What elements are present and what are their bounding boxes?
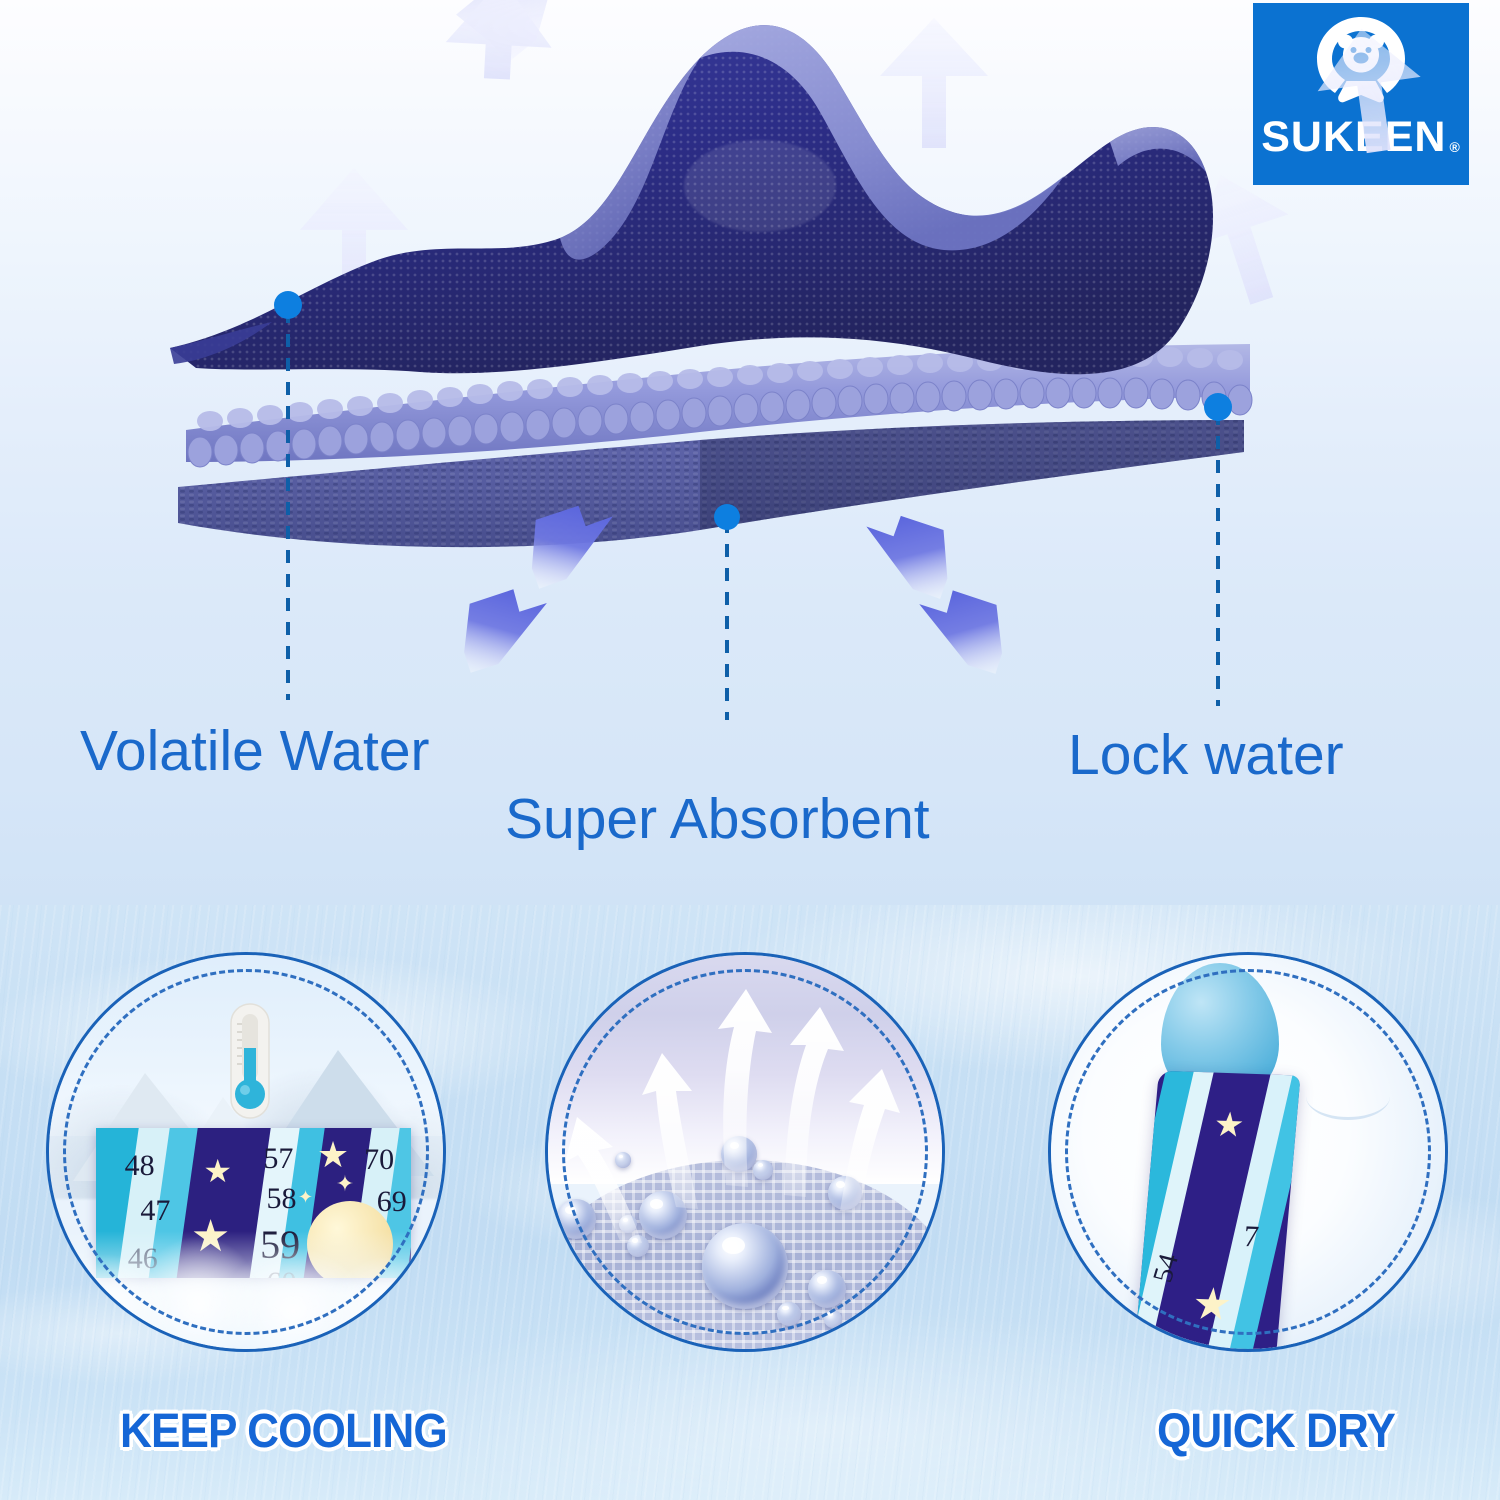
- feature-circle-frame: 48 47 46 57 58 59 60 70 69 ★ ★ ★ ✦ ✦: [46, 952, 446, 1352]
- callout-label-super-absorbent: Super Absorbent: [505, 786, 930, 852]
- marker-dot-volatile-water: [274, 291, 302, 319]
- towel-number: 57: [1155, 1334, 1186, 1349]
- feature-keep-cooling: 48 47 46 57 58 59 60 70 69 ★ ★ ★ ✦ ✦: [46, 952, 446, 1352]
- feature-caption-quick-dry: QUICK DRY: [1157, 1404, 1395, 1459]
- feature-circle-frame: ★ ★ 7 54 57: [1048, 952, 1448, 1352]
- marker-dot-super-absorbent: [714, 504, 740, 530]
- feature-row: 48 47 46 57 58 59 60 70 69 ★ ★ ★ ✦ ✦: [0, 940, 1500, 1500]
- infographic-canvas: SUKEEN ®: [0, 0, 1500, 1500]
- thermometer-icon: [221, 1002, 279, 1125]
- towel-number: 47: [140, 1194, 170, 1228]
- towel-star-icon: ★: [1212, 1108, 1245, 1143]
- towel-star-icon: ✦: [298, 1188, 313, 1206]
- ice-crystals: [49, 1231, 443, 1349]
- feature-quick-dry: QUICK DRY: [545, 952, 945, 1352]
- callout-label-lock-water: Lock water: [1068, 722, 1344, 788]
- hanging-towel: ★ ★ 7 54 57: [1133, 1071, 1300, 1349]
- feature-caption-keep-cooling: KEEP COOLING: [120, 1404, 447, 1459]
- marker-dot-lock-water: [1204, 393, 1232, 421]
- feature-lightweight-soft: ★ ★ 7 54 57 LIGHTWEIGHT SOFT: [1048, 952, 1448, 1352]
- towel-number: 70: [364, 1143, 394, 1177]
- towel-number: 7: [1242, 1220, 1260, 1255]
- towel-number: 48: [125, 1149, 155, 1183]
- towel-star-icon: ✦: [336, 1173, 354, 1195]
- towel-number: 57: [263, 1142, 293, 1176]
- fabric-layer-diagram: [0, 0, 1500, 720]
- towel-star-icon: ★: [203, 1155, 232, 1187]
- feature-circle-frame: [545, 952, 945, 1352]
- soft-shadow-curve: [1306, 1073, 1390, 1120]
- towel-star-icon: ★: [317, 1137, 349, 1173]
- towel-number: 58: [266, 1182, 296, 1216]
- rising-air-arrow-group: [548, 955, 942, 1349]
- callout-label-volatile-water: Volatile Water: [80, 718, 430, 784]
- towel-star-icon: ★: [1190, 1282, 1233, 1327]
